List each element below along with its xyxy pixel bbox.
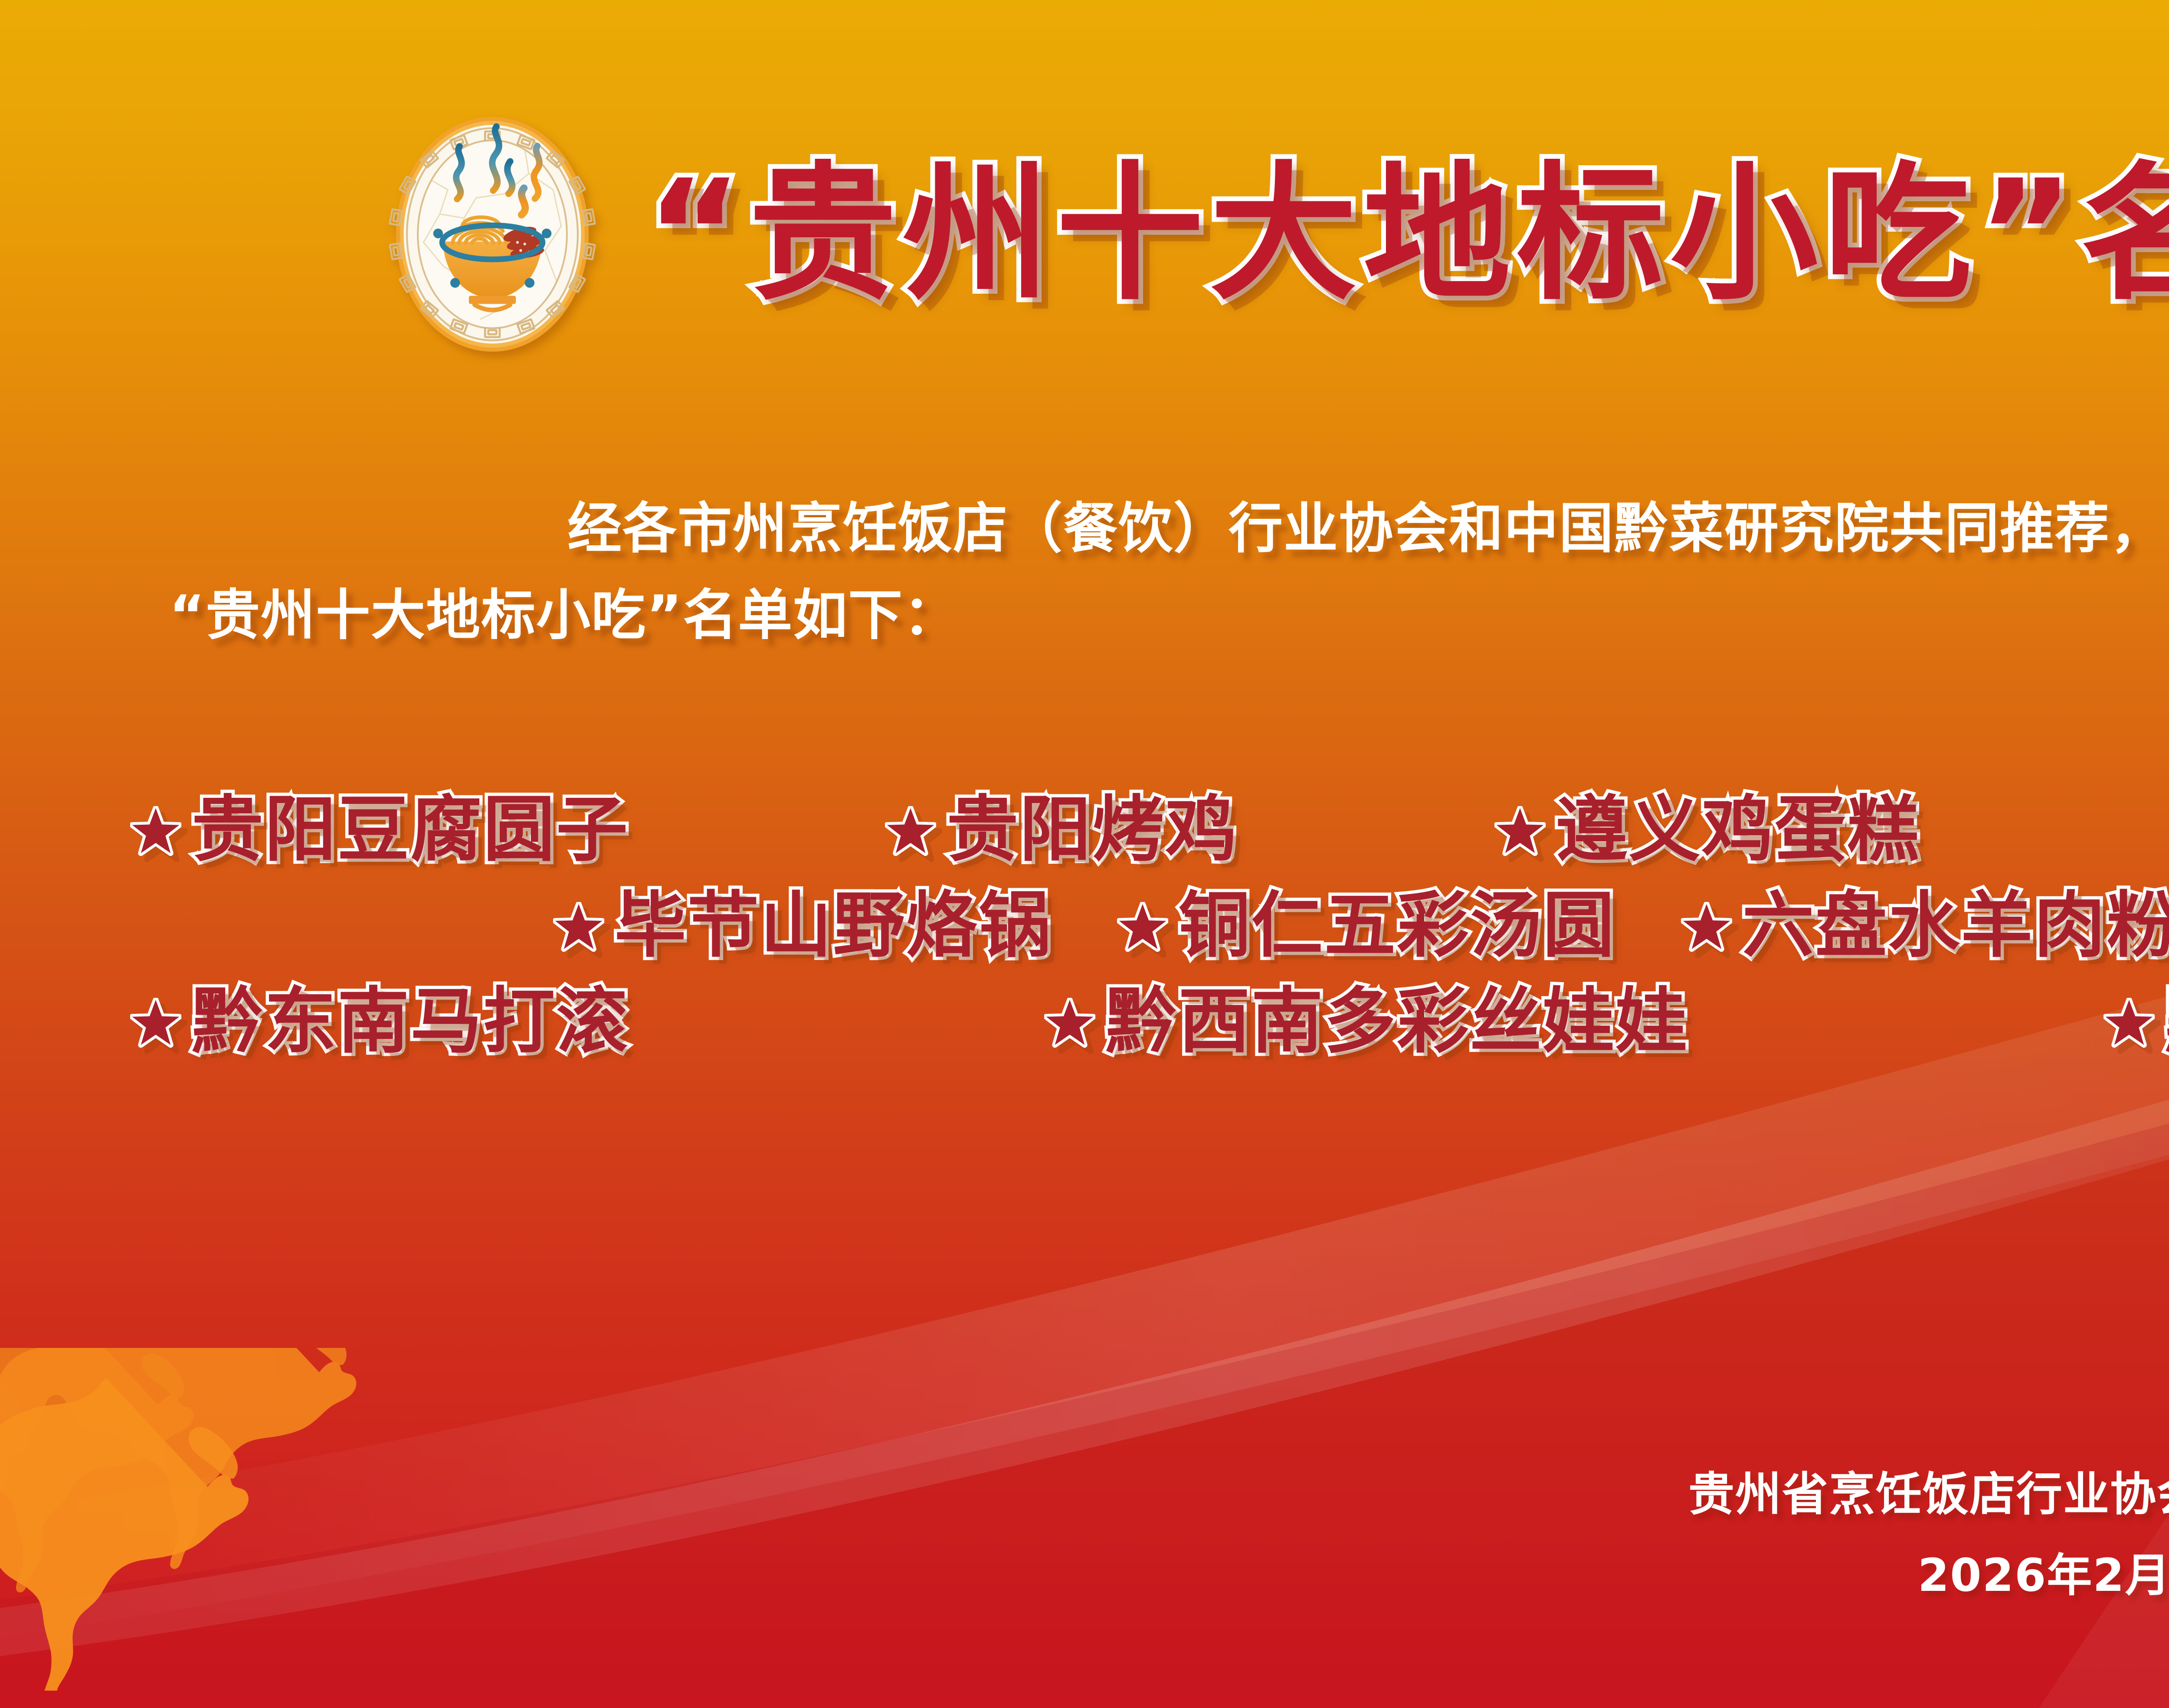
star-icon bbox=[885, 806, 936, 857]
galloping-horses-icon bbox=[0, 1348, 529, 1691]
food-item-label: 遵义鸡蛋糕 bbox=[1556, 794, 1920, 865]
intro-line-1: 经各市州烹饪饭店（餐饮）行业协会和中国黔菜研究院共同推荐， bbox=[143, 490, 2169, 567]
list-item[interactable]: 黔西南多彩丝娃娃 bbox=[1044, 986, 1689, 1057]
list-item[interactable]: 铜仁五彩汤圆 bbox=[1117, 890, 1616, 961]
issuing-organizations: 贵州省烹饪饭店行业协会 中国黔菜研究院 bbox=[1688, 1467, 2169, 1522]
star-icon bbox=[1117, 902, 1168, 953]
intro-line-2: “贵州十大地标小吃”名单如下： bbox=[143, 577, 2169, 654]
food-item-label: 贵阳烤鸡 bbox=[947, 794, 1238, 865]
food-item-label: 黔西南多彩丝娃娃 bbox=[1106, 986, 1689, 1057]
list-item[interactable]: 毕节山野烙锅 bbox=[553, 890, 1052, 961]
star-icon bbox=[1494, 806, 1546, 857]
list-item[interactable]: 六盘水羊肉粉 bbox=[1681, 890, 2169, 961]
food-item-label: 铜仁五彩汤圆 bbox=[1179, 890, 1616, 961]
star-icon bbox=[1044, 998, 1095, 1049]
food-item-label: 毕节山野烙锅 bbox=[615, 890, 1052, 961]
star-icon bbox=[553, 902, 604, 953]
intro-paragraph: 经各市州烹饪饭店（餐饮）行业协会和中国黔菜研究院共同推荐， “贵州十大地标小吃”… bbox=[143, 490, 2169, 654]
food-item-list: 贵阳豆腐圆子 贵阳烤鸡 遵义鸡蛋糕 安顺破酥包 bbox=[130, 794, 2169, 1057]
page-title: “贵州十大地标小吃”名单 bbox=[646, 161, 2169, 308]
food-item-label: 贵阳豆腐圆子 bbox=[192, 794, 629, 865]
poster-canvas: “贵州十大地标小吃”名单 经各市州烹饪饭店（餐饮）行业协会和中国黔菜研究院共同推… bbox=[0, 0, 2169, 1708]
list-item[interactable]: 黔南草塘蒸笼 bbox=[2103, 986, 2169, 1057]
food-row: 贵阳豆腐圆子 贵阳烤鸡 遵义鸡蛋糕 安顺破酥包 bbox=[130, 794, 2169, 865]
food-row: 毕节山野烙锅 铜仁五彩汤圆 六盘水羊肉粉 bbox=[130, 890, 2169, 961]
star-icon bbox=[2103, 998, 2155, 1049]
noodle-bowl-emblem-icon bbox=[371, 113, 614, 356]
poster-header: “贵州十大地标小吃”名单 bbox=[0, 113, 2169, 356]
food-row: 黔东南马打滚 黔西南多彩丝娃娃 黔南草塘蒸笼 bbox=[130, 986, 2169, 1057]
food-item-label: 黔南草塘蒸笼 bbox=[2165, 986, 2169, 1057]
list-item[interactable]: 黔东南马打滚 bbox=[130, 986, 629, 1057]
food-item-label: 黔东南马打滚 bbox=[192, 986, 629, 1057]
issue-date: 2026年2月3日 bbox=[1688, 1538, 2169, 1604]
list-item[interactable]: 贵阳豆腐圆子 bbox=[130, 794, 629, 865]
poster-footer: 贵州省烹饪饭店行业协会 中国黔菜研究院 2026年2月3日 bbox=[1688, 1467, 2169, 1604]
star-icon bbox=[1681, 902, 1732, 953]
star-icon bbox=[130, 806, 181, 857]
list-item[interactable]: 贵阳烤鸡 bbox=[885, 794, 1238, 865]
list-item[interactable]: 遵义鸡蛋糕 bbox=[1494, 794, 1920, 865]
food-item-label: 六盘水羊肉粉 bbox=[1743, 890, 2169, 961]
star-icon bbox=[130, 998, 181, 1049]
